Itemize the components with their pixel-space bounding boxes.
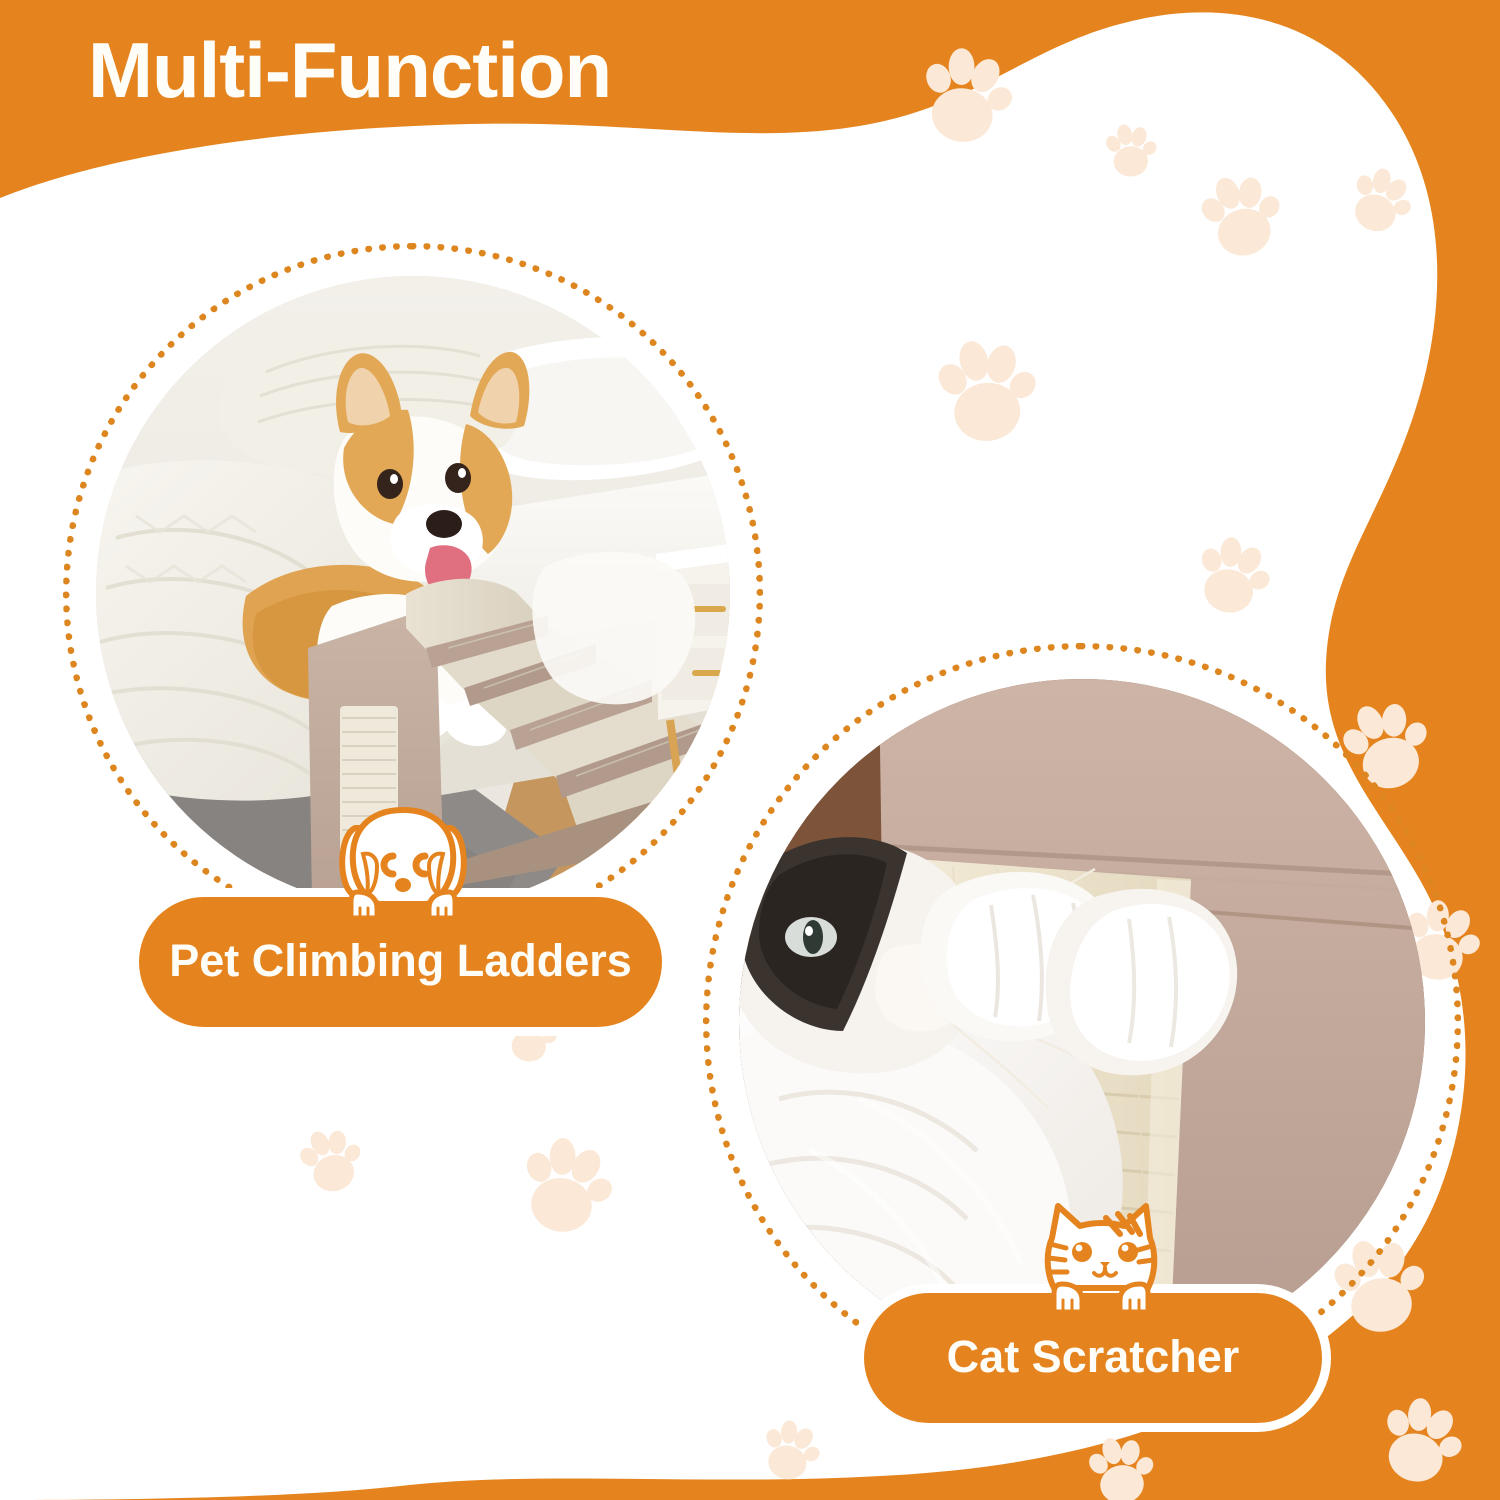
cat-face-icon: [1036, 1200, 1166, 1312]
page-title: Multi-Function: [88, 22, 988, 118]
infographic-canvas: Multi-Function: [0, 0, 1500, 1500]
badge-label-pet-climbing-ladders: Pet Climbing Ladders: [169, 935, 632, 987]
dog-face-icon: [333, 806, 473, 918]
badge-label-cat-scratcher: Cat Scratcher: [947, 1331, 1240, 1383]
